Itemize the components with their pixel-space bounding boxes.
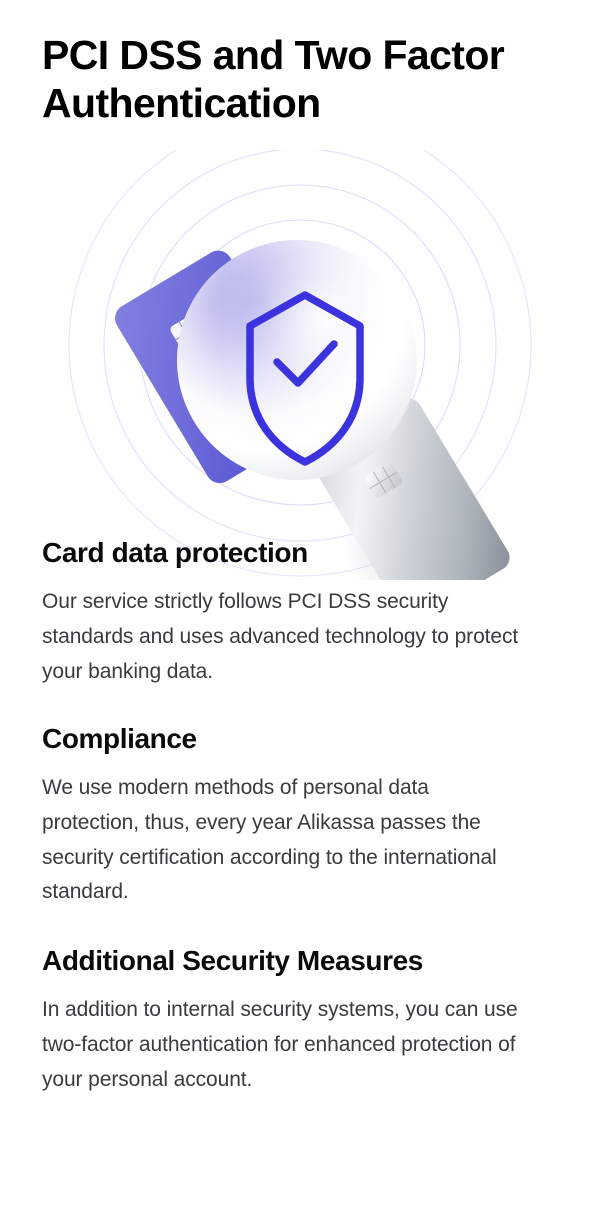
content-sections: Card data protection Our service strictl… <box>42 536 562 1098</box>
section-body: We use modern methods of personal data p… <box>42 771 524 910</box>
sphere <box>177 240 417 480</box>
security-info-page: PCI DSS and Two Factor Authentication <box>0 0 600 1220</box>
section-compliance: Compliance We use modern methods of pers… <box>42 722 562 911</box>
security-shield-cards-illustration <box>0 150 600 580</box>
section-card-data-protection: Card data protection Our service strictl… <box>42 536 562 690</box>
section-title: Compliance <box>42 722 562 756</box>
section-additional-security-measures: Additional Security Measures In addition… <box>42 944 562 1098</box>
section-title: Additional Security Measures <box>42 944 562 978</box>
section-body: In addition to internal security systems… <box>42 993 524 1098</box>
page-title: PCI DSS and Two Factor Authentication <box>42 32 552 127</box>
section-body: Our service strictly follows PCI DSS sec… <box>42 585 524 690</box>
section-title: Card data protection <box>42 536 562 570</box>
